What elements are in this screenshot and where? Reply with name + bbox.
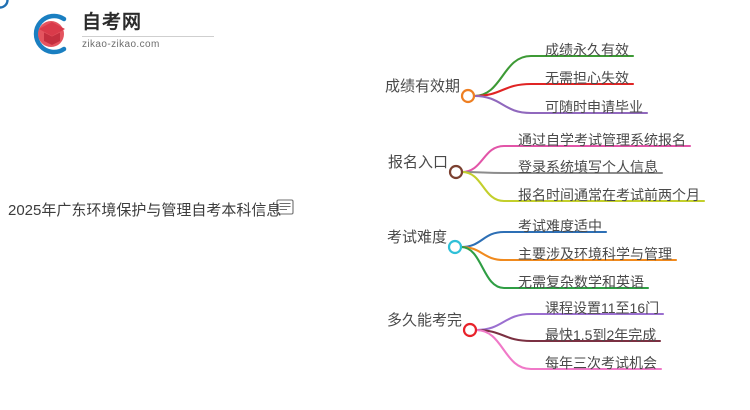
- leaf-label-0-1[interactable]: 无需担心失效: [545, 71, 629, 85]
- branch-label-2[interactable]: 考试难度: [387, 230, 447, 245]
- leaf-label-3-1[interactable]: 最快1.5到2年完成: [545, 328, 656, 342]
- leaf-label-2-1[interactable]: 主要涉及环境科学与管理: [518, 247, 672, 261]
- branch-node-0[interactable]: [462, 90, 474, 102]
- root-node[interactable]: [0, 0, 8, 8]
- leaf-label-1-1[interactable]: 登录系统填写个人信息: [518, 160, 658, 174]
- leaf-label-1-2[interactable]: 报名时间通常在考试前两个月: [518, 188, 700, 202]
- leaf-label-0-2[interactable]: 可随时申请毕业: [545, 100, 643, 114]
- leaf-label-2-2[interactable]: 无需复杂数学和英语: [518, 275, 644, 289]
- mindmap-page: 自考网 zikao-zikao.com 2025年广东环境保护与管理自考本科信息…: [0, 0, 750, 410]
- branch-label-1[interactable]: 报名入口: [388, 155, 448, 170]
- branch-node-3[interactable]: [464, 324, 476, 336]
- branch-node-2[interactable]: [449, 241, 461, 253]
- branch-label-0[interactable]: 成绩有效期: [385, 79, 460, 94]
- branch-node-1[interactable]: [450, 166, 462, 178]
- leaf-label-3-2[interactable]: 每年三次考试机会: [545, 356, 657, 370]
- leaf-label-1-0[interactable]: 通过自学考试管理系统报名: [518, 133, 686, 147]
- leaf-label-2-0[interactable]: 考试难度适中: [518, 219, 602, 233]
- leaf-label-0-0[interactable]: 成绩永久有效: [545, 43, 629, 57]
- branch-label-3[interactable]: 多久能考完: [387, 313, 462, 328]
- root-label[interactable]: 2025年广东环境保护与管理自考本科信息: [8, 203, 281, 218]
- leaf-label-3-0[interactable]: 课程设置11至16门: [545, 301, 659, 315]
